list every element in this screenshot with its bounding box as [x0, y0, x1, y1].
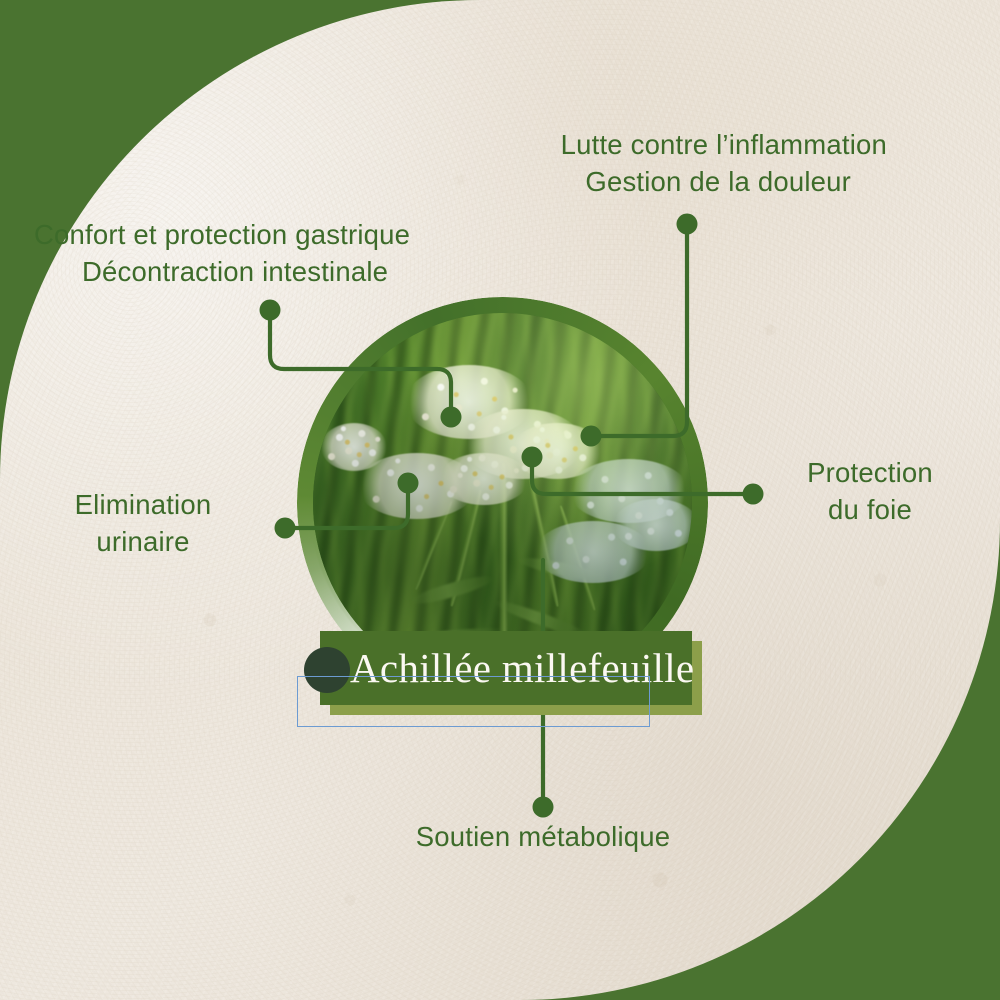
label-liver-line2: du foie: [772, 491, 968, 528]
label-inflammation: Lutte contre l’inflammation Gestion de l…: [260, 126, 887, 201]
label-urinary-line2: urinaire: [46, 523, 240, 560]
connector-liver: [532, 462, 748, 494]
connector-dot-metabolic: [533, 797, 554, 818]
label-inflammation-line2: Gestion de la douleur: [260, 163, 887, 200]
connector-dot-gastric-end: [441, 407, 462, 428]
label-gastric: Confort et protection gastrique Décontra…: [34, 216, 634, 291]
connector-dot-inflammation: [677, 214, 698, 235]
connector-gastric: [270, 312, 451, 412]
label-metabolic-line1: Soutien métabolique: [343, 818, 743, 855]
label-urinary: Elimination urinaire: [46, 486, 240, 561]
label-urinary-line1: Elimination: [46, 486, 240, 523]
label-liver-line1: Protection: [772, 454, 968, 491]
label-metabolic: Soutien métabolique: [343, 818, 743, 855]
label-inflammation-line1: Lutte contre l’inflammation: [260, 126, 887, 163]
connector-dot-liver-end: [522, 447, 543, 468]
label-liver: Protection du foie: [772, 454, 968, 529]
connector-dot-gastric: [260, 300, 281, 321]
connector-dot-urinary: [275, 518, 296, 539]
selection-rectangle[interactable]: [297, 676, 650, 727]
label-gastric-line2: Décontraction intestinale: [34, 253, 634, 290]
connector-dot-urinary-end: [398, 473, 419, 494]
connector-dot-liver: [743, 484, 764, 505]
connector-urinary: [287, 488, 408, 528]
connector-dot-inflammation-end: [581, 426, 602, 447]
infographic-canvas: Achillée millefeuille Lutte contre l’inf…: [0, 0, 1000, 1000]
label-gastric-line1: Confort et protection gastrique: [34, 216, 634, 253]
